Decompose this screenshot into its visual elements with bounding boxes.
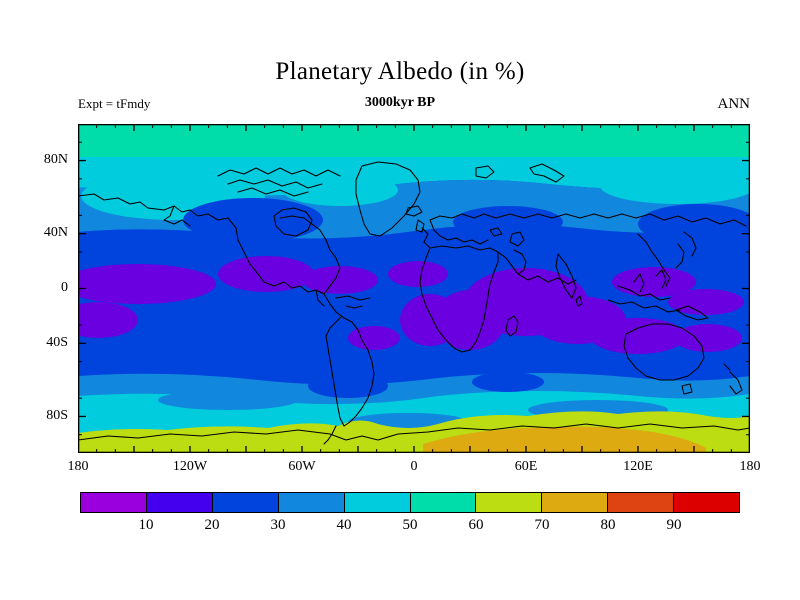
colorbar-tick-90: 90 bbox=[667, 517, 682, 534]
colorbar-tick-50: 50 bbox=[403, 517, 418, 534]
colorbar-tick-40: 40 bbox=[337, 517, 352, 534]
albedo-field bbox=[78, 124, 750, 453]
colorbar-tick-80: 80 bbox=[601, 517, 616, 534]
y-tick-0: 0 bbox=[6, 280, 68, 296]
colorbar-cell-10-20 bbox=[146, 493, 212, 512]
colorbar-tick-10: 10 bbox=[139, 517, 154, 534]
page-title: Planetary Albedo (in %) bbox=[0, 58, 800, 86]
colorbar-swatches bbox=[80, 492, 740, 513]
x-tick-180e: 180 bbox=[740, 459, 761, 475]
albedo-map bbox=[78, 124, 750, 453]
experiment-label: Expt = tFmdy bbox=[78, 96, 150, 112]
colorbar bbox=[80, 492, 740, 513]
colorbar-cell-60-70 bbox=[475, 493, 541, 512]
figure-canvas: Planetary Albedo (in %) 3000kyr BP Expt … bbox=[0, 0, 800, 600]
y-tick-80n: 80N bbox=[6, 152, 68, 168]
colorbar-tick-30: 30 bbox=[271, 517, 286, 534]
x-tick-120w: 120W bbox=[173, 459, 207, 475]
map-plot-area bbox=[78, 124, 750, 453]
x-tick-0: 0 bbox=[411, 459, 418, 475]
colorbar-tick-60: 60 bbox=[469, 517, 484, 534]
colorbar-cell-90-100 bbox=[673, 493, 739, 512]
colorbar-cell-20-30 bbox=[212, 493, 278, 512]
colorbar-tick-20: 20 bbox=[205, 517, 220, 534]
x-tick-60e: 60E bbox=[515, 459, 538, 475]
y-tick-40s: 40S bbox=[6, 335, 68, 351]
colorbar-tick-70: 70 bbox=[535, 517, 550, 534]
y-tick-40n: 40N bbox=[6, 225, 68, 241]
colorbar-cell-40-50 bbox=[344, 493, 410, 512]
colorbar-cell-0-10 bbox=[81, 493, 146, 512]
x-tick-60w: 60W bbox=[288, 459, 315, 475]
colorbar-cell-50-60 bbox=[410, 493, 476, 512]
x-tick-120e: 120E bbox=[623, 459, 653, 475]
season-label: ANN bbox=[718, 96, 751, 113]
colorbar-cell-70-80 bbox=[541, 493, 607, 512]
colorbar-cell-80-90 bbox=[607, 493, 673, 512]
y-tick-80s: 80S bbox=[6, 408, 68, 424]
x-tick-180w: 180 bbox=[68, 459, 89, 475]
colorbar-cell-30-40 bbox=[278, 493, 344, 512]
